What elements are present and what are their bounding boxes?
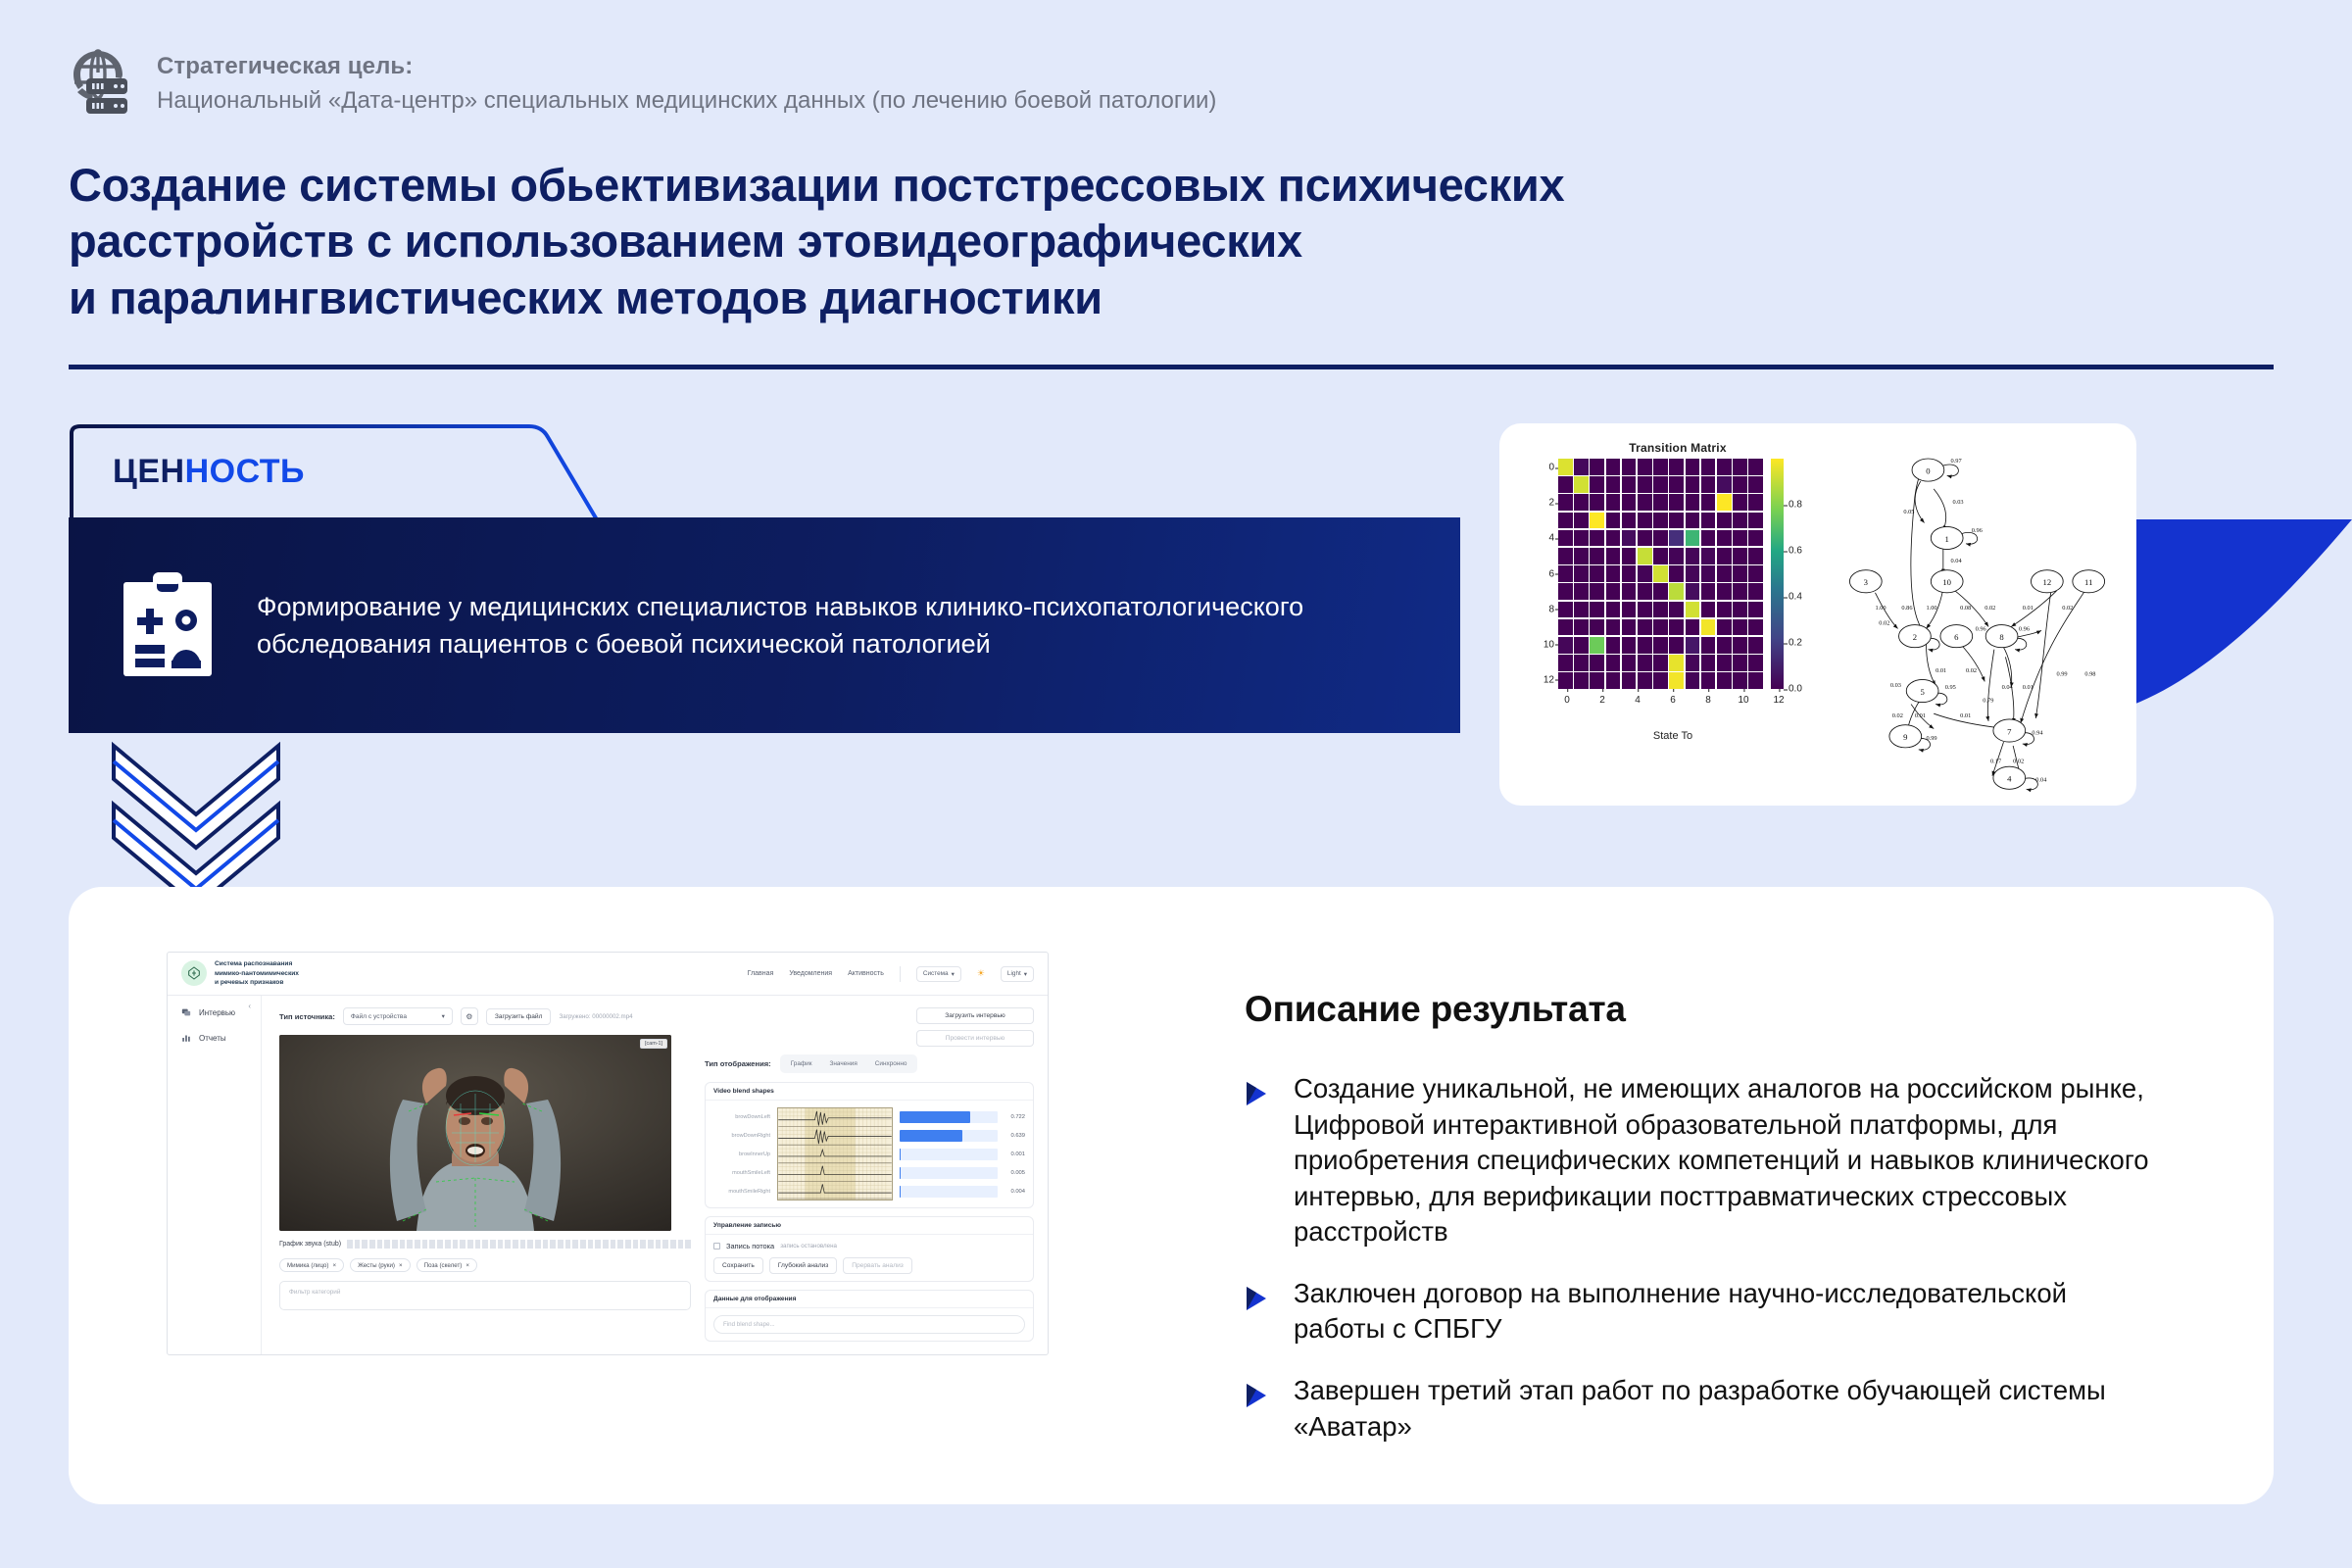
result-bullets: Создание уникальной, не имеющих аналогов… <box>1245 1071 2156 1445</box>
heatmap-cell <box>1622 619 1637 636</box>
heatmap-cell <box>1701 548 1716 564</box>
heatmap-cell <box>1606 602 1621 618</box>
svg-text:0.96: 0.96 <box>1972 527 1983 534</box>
system-select[interactable]: Система ▾ <box>916 966 961 982</box>
heatmap-cell <box>1748 565 1763 582</box>
svg-text:1: 1 <box>1945 534 1949 544</box>
sound-bar <box>347 1240 353 1249</box>
colorbar-tick: 0.4 <box>1788 592 1802 603</box>
blend-shape-names: browDownLeftbrowDownRightbrowInnerUpmout… <box>713 1107 770 1200</box>
svg-text:0.01: 0.01 <box>1960 712 1971 719</box>
heatmap-cell <box>1574 637 1589 654</box>
heatmap-y-tick: 8 <box>1548 604 1554 614</box>
heatmap-x-tick: 12 <box>1773 695 1784 706</box>
heatmap-cell <box>1669 602 1684 618</box>
brand-line-2: мимико-пантомимических <box>215 969 299 979</box>
svg-text:0.94: 0.94 <box>2032 729 2043 736</box>
camera-tag: [cam-1] <box>640 1039 667 1049</box>
sound-bar <box>595 1240 601 1249</box>
sound-bar <box>453 1240 459 1249</box>
heatmap-cell <box>1622 565 1637 582</box>
heatmap-cell <box>1590 494 1604 511</box>
blend-shape-bar-fill <box>900 1111 970 1123</box>
heatmap-cell <box>1590 672 1604 689</box>
nav-item-home[interactable]: Главная <box>748 970 774 977</box>
heatmap-cell <box>1606 513 1621 529</box>
svg-text:0.96: 0.96 <box>1976 625 1986 632</box>
heatmap-cell <box>1717 637 1732 654</box>
heatmap-x-tick: 10 <box>1738 695 1748 706</box>
heatmap-cell <box>1669 476 1684 493</box>
nav-item-notifications[interactable]: Уведомления <box>789 970 832 977</box>
display-type-segments: График Значения Синхронно <box>780 1054 918 1073</box>
heatmap-cell <box>1717 655 1732 671</box>
heatmap-cell <box>1748 655 1763 671</box>
heatmap-x-axis: 024681012 <box>1558 689 1788 714</box>
value-tab-label-part1: ЦЕН <box>113 453 185 490</box>
blend-shapes-title: Video blend shapes <box>706 1083 1033 1101</box>
heatmap-cell <box>1748 619 1763 636</box>
blend-shape-value: 0.639 <box>1004 1133 1025 1139</box>
nav-divider <box>900 966 901 982</box>
heatmap-cell <box>1717 602 1732 618</box>
state-transition-diagram: 0 1 2 3 4 5 6 7 8 <box>1809 437 2121 792</box>
svg-text:0.99: 0.99 <box>2056 671 2067 678</box>
heatmap-cell <box>1622 530 1637 547</box>
sound-graph-row: График звука (stub) <box>279 1240 691 1249</box>
heatmap-cell <box>1733 459 1747 475</box>
app-left-column: Тип источника: Файл с устройства ▾ ⚙ Заг… <box>279 1007 691 1354</box>
heatmap-cell <box>1638 476 1652 493</box>
sound-bar <box>498 1240 504 1249</box>
theme-select[interactable]: Light ▾ <box>1001 966 1034 982</box>
heatmap-cell <box>1669 619 1684 636</box>
video-preview[interactable]: [cam-1] <box>279 1035 671 1231</box>
heatmap-cell <box>1733 494 1747 511</box>
blend-shape-waveform <box>777 1107 893 1200</box>
sound-bar <box>475 1240 481 1249</box>
heatmap-cell <box>1669 583 1684 600</box>
chevron-down-icon: ▾ <box>1024 970 1027 978</box>
sound-bar <box>527 1240 533 1249</box>
heatmap-cell <box>1748 672 1763 689</box>
upload-file-button[interactable]: Загрузить файл <box>486 1008 552 1025</box>
triangle-bullet-icon <box>1245 1286 1268 1311</box>
segment-sync[interactable]: Синхронно <box>867 1057 915 1070</box>
heatmap-cell <box>1622 655 1637 671</box>
blend-shape-value: 0.001 <box>1004 1151 1025 1157</box>
heatmap-cell <box>1717 459 1732 475</box>
heatmap-cell <box>1590 530 1604 547</box>
source-label: Тип источника: <box>279 1012 335 1021</box>
sound-bar <box>513 1240 518 1249</box>
svg-text:0.02: 0.02 <box>1966 667 1977 674</box>
svg-text:0.04: 0.04 <box>2002 684 2014 691</box>
sound-bar <box>407 1240 413 1249</box>
find-blend-shape-input[interactable]: Find blend shape... <box>713 1315 1025 1334</box>
recognition-app-window: Система распознавания мимико-пантомимиче… <box>167 952 1049 1355</box>
app-topbar: Система распознавания мимико-пантомимиче… <box>168 953 1048 996</box>
heatmap-cell <box>1733 476 1747 493</box>
heatmap-cell <box>1558 548 1573 564</box>
heatmap-cell <box>1590 637 1604 654</box>
blend-shape-bar-track <box>900 1111 998 1123</box>
svg-text:0.02: 0.02 <box>2013 758 2024 764</box>
blend-shape-value: 0.722 <box>1004 1114 1025 1120</box>
tag-hands-label: Жесты (руки) <box>358 1262 395 1269</box>
heatmap-cell <box>1653 459 1668 475</box>
colorbar-tick: 0.0 <box>1788 684 1802 695</box>
clipboard-patient-icon <box>120 570 216 680</box>
svg-text:0.95: 0.95 <box>1945 684 1956 691</box>
heatmap-cell <box>1686 548 1700 564</box>
heatmap-cell <box>1717 530 1732 547</box>
heatmap-grid <box>1558 459 1763 689</box>
display-type-label: Тип отображения: <box>705 1059 771 1068</box>
title-line-2: расстройств с использованием этовидеогра… <box>69 213 2127 269</box>
heatmap-cell <box>1574 548 1589 564</box>
heatmap-cell <box>1701 602 1716 618</box>
heatmap-cell <box>1686 565 1700 582</box>
chevron-down-icon: ▾ <box>442 1012 445 1020</box>
blend-shape-bar-fill <box>900 1167 901 1179</box>
heatmap-cell <box>1748 494 1763 511</box>
heatmap-cell <box>1622 602 1637 618</box>
heatmap-cell <box>1686 476 1700 493</box>
heatmap-x-tick: 4 <box>1635 695 1641 706</box>
heatmap-cell <box>1701 494 1716 511</box>
heatmap-y-tick: 12 <box>1543 674 1554 685</box>
display-data-card: Данные для отображения Find blend shape.… <box>705 1290 1034 1342</box>
heatmap-cell <box>1653 513 1668 529</box>
bullet-text-1: Создание уникальной, не имеющих аналогов… <box>1294 1071 2156 1250</box>
heatmap-y-tick: 4 <box>1548 533 1554 544</box>
heatmap-cell <box>1622 459 1637 475</box>
goal-label: Стратегическая цель: <box>157 51 1216 82</box>
heatmap-cell <box>1669 530 1684 547</box>
heatmap-cell <box>1686 619 1700 636</box>
value-panel: Формирование у медицинских специалистов … <box>69 517 1460 733</box>
heatmap-cell <box>1638 459 1652 475</box>
svg-text:0.03: 0.03 <box>1952 499 1963 506</box>
heatmap-cell <box>1558 565 1573 582</box>
heatmap-cell <box>1653 655 1668 671</box>
sound-bar <box>362 1240 367 1249</box>
sidebar-item-reports[interactable]: Отчеты <box>181 1033 261 1043</box>
transition-matrix-heatmap: Transition Matrix 024681012 0.00.20.40.6… <box>1515 437 1809 792</box>
heatmap-cell <box>1622 583 1637 600</box>
svg-text:10: 10 <box>1942 577 1951 587</box>
heatmap-cell <box>1653 548 1668 564</box>
heatmap-cell <box>1574 565 1589 582</box>
heatmap-cell <box>1622 672 1637 689</box>
blend-shape-row: 0.005 <box>900 1163 1025 1182</box>
heatmap-cell <box>1622 494 1637 511</box>
sidebar-label-reports: Отчеты <box>199 1034 226 1043</box>
svg-text:9: 9 <box>1903 732 1907 742</box>
svg-text:0.01: 0.01 <box>1915 712 1926 719</box>
heatmap-title: Transition Matrix <box>1546 441 1809 455</box>
list-item: Создание уникальной, не имеющих аналогов… <box>1245 1071 2156 1250</box>
svg-text:0.17: 0.17 <box>1990 758 2001 764</box>
bullet-text-3: Завершен третий этап работ по разработке… <box>1294 1373 2156 1445</box>
heatmap-cell <box>1590 565 1604 582</box>
source-select[interactable]: Файл с устройства ▾ <box>343 1007 453 1025</box>
heatmap-x-tick: 8 <box>1705 695 1711 706</box>
heatmap-y-axis: 024681012 <box>1541 459 1558 689</box>
tag-face[interactable]: Мимика (лицо)× <box>279 1258 344 1272</box>
page-title: Создание системы обьективизации постстре… <box>69 157 2127 325</box>
result-description: Описание результата Создание уникальной,… <box>1137 887 2274 1504</box>
heatmap-cell <box>1558 637 1573 654</box>
source-row: Тип источника: Файл с устройства ▾ ⚙ Заг… <box>279 1007 691 1025</box>
heatmap-cell <box>1653 530 1668 547</box>
sidebar-collapse-icon[interactable]: ‹ <box>248 1002 251 1010</box>
blend-shape-name: mouthSmileRight <box>713 1182 770 1200</box>
triangle-bullet-icon <box>1245 1081 1268 1106</box>
heatmap-cell <box>1701 637 1716 654</box>
heatmap-cell <box>1638 530 1652 547</box>
heatmap-cell <box>1733 655 1747 671</box>
blend-shape-row: 0.004 <box>900 1182 1025 1200</box>
blend-shape-bar-track <box>900 1149 998 1160</box>
heatmap-cell <box>1638 583 1652 600</box>
result-title: Описание результата <box>1245 989 2156 1030</box>
heatmap-cell <box>1558 494 1573 511</box>
abort-analysis-button[interactable]: Прервать анализ <box>843 1257 912 1274</box>
sound-bar <box>565 1240 571 1249</box>
svg-text:0: 0 <box>1926 465 1930 475</box>
blend-shape-name: mouthSmileLeft <box>713 1163 770 1182</box>
heatmap-cell <box>1748 602 1763 618</box>
heatmap-cell <box>1717 672 1732 689</box>
blend-shape-name: browDownLeft <box>713 1107 770 1126</box>
tag-pose[interactable]: Поза (скелет)× <box>416 1258 477 1272</box>
theme-select-label: Light <box>1007 970 1021 977</box>
svg-text:11: 11 <box>2084 577 2092 587</box>
deep-analysis-button[interactable]: Глубокий анализ <box>769 1257 837 1274</box>
svg-text:0.03: 0.03 <box>1890 682 1901 689</box>
heatmap-cell <box>1638 672 1652 689</box>
app-screenshot: Система распознавания мимико-пантомимиче… <box>69 887 1137 1504</box>
heatmap-cell <box>1574 494 1589 511</box>
heatmap-cell <box>1590 459 1604 475</box>
heatmap-cell <box>1701 619 1716 636</box>
tag-hands[interactable]: Жесты (руки)× <box>350 1258 411 1272</box>
heatmap-cell <box>1717 619 1732 636</box>
heatmap-cell <box>1606 494 1621 511</box>
heatmap-cell <box>1686 602 1700 618</box>
heatmap-cell <box>1638 513 1652 529</box>
blend-shape-name: browDownRight <box>713 1126 770 1145</box>
record-stream-checkbox[interactable] <box>713 1243 720 1249</box>
blend-shape-name: browInnerUp <box>713 1145 770 1163</box>
heatmap-cell <box>1606 530 1621 547</box>
heatmap-y-tick: 10 <box>1543 639 1554 650</box>
blend-shape-value: 0.005 <box>1004 1170 1025 1176</box>
blend-shape-bar-track <box>900 1130 998 1142</box>
heatmap-cell <box>1590 655 1604 671</box>
app-main: Тип источника: Файл с устройства ▾ ⚙ Заг… <box>262 996 1048 1354</box>
analytics-chart-card: Transition Matrix 024681012 0.00.20.40.6… <box>1499 423 2136 806</box>
blend-shapes-card: Video blend shapes browDownLeftbrowDownR… <box>705 1082 1034 1208</box>
svg-text:0.86: 0.86 <box>1901 605 1912 612</box>
list-item: Завершен третий этап работ по разработке… <box>1245 1373 2156 1445</box>
heatmap-cell <box>1748 459 1763 475</box>
sound-bar <box>588 1240 594 1249</box>
list-item: Заключен договор на выполнение научно-ис… <box>1245 1276 2156 1347</box>
tag-face-label: Мимика (лицо) <box>287 1262 328 1269</box>
blend-shape-bar-fill <box>900 1186 901 1198</box>
heatmap-cell <box>1717 494 1732 511</box>
segment-graph[interactable]: График <box>783 1057 820 1070</box>
value-body-text: Формирование у медицинских специалистов … <box>257 588 1364 663</box>
heatmap-cell <box>1653 494 1668 511</box>
value-tab-label: ЦЕННОСТЬ <box>113 453 305 491</box>
sound-bar <box>648 1240 654 1249</box>
heatmap-cell <box>1622 513 1637 529</box>
heatmap-cell <box>1717 476 1732 493</box>
svg-text:0.02: 0.02 <box>1984 605 1995 612</box>
heatmap-cell <box>1733 548 1747 564</box>
sound-bar <box>369 1240 375 1249</box>
category-filter-input[interactable]: Фильтр категорий <box>279 1281 691 1310</box>
heatmap-cell <box>1638 619 1652 636</box>
heatmap-cell <box>1733 619 1747 636</box>
heatmap-cell <box>1717 583 1732 600</box>
settings-button[interactable]: ⚙ <box>461 1007 478 1025</box>
heatmap-cell <box>1669 548 1684 564</box>
heatmap-cell <box>1653 565 1668 582</box>
globe-server-icon <box>69 49 133 118</box>
heatmap-cell <box>1686 494 1700 511</box>
sound-graph-label: График звука (stub) <box>279 1241 341 1248</box>
interview-icon <box>181 1007 191 1017</box>
sound-bar <box>400 1240 406 1249</box>
heatmap-cell <box>1606 655 1621 671</box>
sound-bar <box>558 1240 563 1249</box>
sound-bar <box>415 1240 420 1249</box>
sound-bar <box>670 1240 676 1249</box>
heatmap-cell <box>1606 619 1621 636</box>
svg-text:3: 3 <box>1864 577 1868 587</box>
heatmap-cell <box>1733 672 1747 689</box>
sound-bar <box>460 1240 465 1249</box>
display-data-title: Данные для отображения <box>706 1291 1033 1308</box>
heatmap-cell <box>1653 476 1668 493</box>
close-icon[interactable]: × <box>332 1262 336 1269</box>
heatmap-cell <box>1733 513 1747 529</box>
svg-text:1.00: 1.00 <box>1926 605 1936 612</box>
title-line-3: и паралингвистических методов диагностик… <box>69 269 2127 325</box>
heatmap-cell <box>1669 494 1684 511</box>
sun-icon: ☀ <box>977 968 985 979</box>
upload-interview-button[interactable]: Загрузить интервью <box>916 1007 1034 1024</box>
svg-text:0.01: 0.01 <box>2023 684 2033 691</box>
heatmap-cell <box>1574 583 1589 600</box>
blend-shape-row: 0.722 <box>900 1107 1025 1126</box>
record-status: запись остановлена <box>780 1243 837 1249</box>
sound-bar <box>505 1240 511 1249</box>
heatmap-cell <box>1686 672 1700 689</box>
heatmap-cell <box>1606 583 1621 600</box>
sound-bar <box>550 1240 556 1249</box>
sound-bar <box>490 1240 496 1249</box>
heatmap-cell <box>1606 637 1621 654</box>
transition-graph-svg: 0 1 2 3 4 5 6 7 8 <box>1809 437 2121 792</box>
save-button[interactable]: Сохранить <box>713 1257 763 1274</box>
heatmap-cell <box>1748 530 1763 547</box>
triangle-bullet-icon <box>1245 1383 1268 1408</box>
heatmap-cell <box>1733 565 1747 582</box>
blend-shape-bar-track <box>900 1167 998 1179</box>
title-divider <box>69 365 2274 369</box>
app-nav: Главная Уведомления Активность Система ▾… <box>748 966 1034 982</box>
heatmap-x-label: State To <box>1558 730 1788 742</box>
heatmap-cell <box>1558 602 1573 618</box>
record-stream-row: Запись потока запись остановлена <box>713 1242 1025 1250</box>
heatmap-cell <box>1733 530 1747 547</box>
heatmap-cell <box>1748 637 1763 654</box>
heatmap-cell <box>1606 476 1621 493</box>
svg-text:6: 6 <box>1954 632 1959 642</box>
blend-shape-bar-fill <box>900 1130 962 1142</box>
heatmap-cell <box>1717 513 1732 529</box>
record-buttons: Сохранить Глубокий анализ Прервать анали… <box>713 1257 1025 1274</box>
colorbar-tick: 0.2 <box>1788 638 1802 649</box>
sound-bar <box>685 1240 691 1249</box>
heatmap-cell <box>1590 548 1604 564</box>
heatmap-cell <box>1574 655 1589 671</box>
heatmap-cell <box>1558 476 1573 493</box>
sound-bar <box>467 1240 473 1249</box>
heatmap-cell <box>1686 637 1700 654</box>
heatmap-cell <box>1574 619 1589 636</box>
svg-text:0.08: 0.08 <box>1960 605 1971 612</box>
heatmap-x-tick: 0 <box>1564 695 1570 706</box>
heatmap-cell <box>1574 513 1589 529</box>
sound-bar <box>520 1240 526 1249</box>
heatmap-cell <box>1748 583 1763 600</box>
heatmap-cell <box>1558 513 1573 529</box>
close-icon[interactable]: × <box>399 1262 403 1269</box>
heatmap-cell <box>1574 476 1589 493</box>
heatmap-cell <box>1669 513 1684 529</box>
segment-values[interactable]: Значения <box>822 1057 865 1070</box>
sound-graph-bars <box>347 1240 691 1249</box>
nav-item-activity[interactable]: Активность <box>848 970 884 977</box>
source-select-value: Файл с устройства <box>351 1013 407 1020</box>
reports-icon <box>181 1033 191 1043</box>
sound-bar <box>617 1240 623 1249</box>
display-type-row: Тип отображения: График Значения Синхрон… <box>705 1054 1034 1073</box>
conduct-interview-button[interactable]: Провести интервью <box>916 1030 1034 1047</box>
goal-subtitle: Национальный «Дата-центр» специальных ме… <box>157 85 1216 117</box>
heatmap-cell <box>1653 619 1668 636</box>
svg-text:0.05: 0.05 <box>1903 509 1914 515</box>
heatmap-colorbar: 0.00.20.40.60.8 <box>1771 459 1809 689</box>
heatmap-cell <box>1653 602 1668 618</box>
heatmap-cell <box>1574 459 1589 475</box>
close-icon[interactable]: × <box>465 1262 469 1269</box>
record-stream-label: Запись потока <box>726 1242 774 1250</box>
feature-tags: Мимика (лицо)× Жесты (руки)× Поза (скеле… <box>279 1258 691 1272</box>
sound-bar <box>656 1240 661 1249</box>
svg-text:0.97: 0.97 <box>1951 458 1962 465</box>
sound-bar <box>535 1240 541 1249</box>
sound-bar <box>437 1240 443 1249</box>
heatmap-cell <box>1748 476 1763 493</box>
